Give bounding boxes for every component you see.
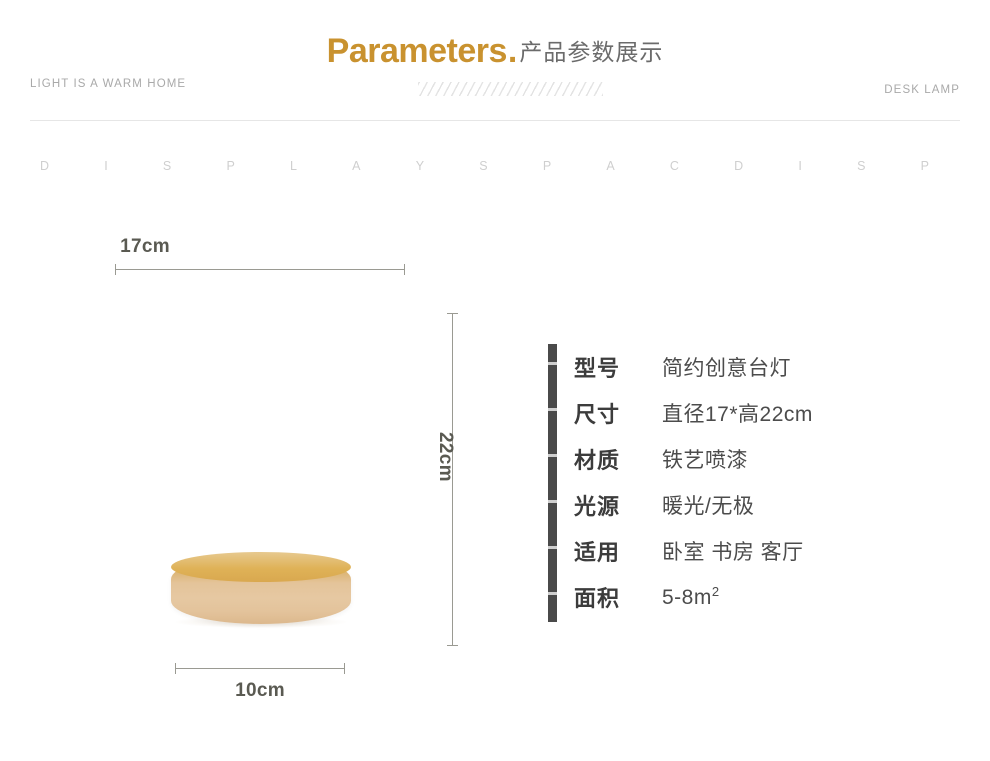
lamp-ring xyxy=(113,298,405,590)
spec-label: 型号 xyxy=(574,351,650,383)
spec-value: 暖光/无极 xyxy=(662,490,754,520)
band-letter: A xyxy=(606,159,615,173)
spec-value: 卧室 书房 客厅 xyxy=(662,536,804,566)
band-letter: S xyxy=(163,159,172,173)
dimension-cap-left-top xyxy=(115,264,116,275)
band-letter: D xyxy=(40,159,50,173)
band-letter: S xyxy=(479,159,488,173)
dimension-cap-right-top xyxy=(404,264,405,275)
spec-bar-tick xyxy=(548,408,557,411)
dimension-label-height-right: 22cm xyxy=(434,432,456,482)
page-title: Parameters.产品参数展示 xyxy=(0,32,990,71)
band-letter: D xyxy=(734,159,744,173)
spec-accent-bar xyxy=(548,344,557,622)
band-letter: I xyxy=(798,159,802,173)
spec-bar-tick xyxy=(548,592,557,595)
lamp-base-top xyxy=(171,552,351,582)
band-letter: Y xyxy=(416,159,425,173)
spec-label: 尺寸 xyxy=(574,397,650,429)
spec-value: 直径17*高22cm xyxy=(662,398,813,428)
band-letter: P xyxy=(226,159,235,173)
band-letter: A xyxy=(352,159,361,173)
spec-label: 面积 xyxy=(574,581,650,613)
dimension-line-width-top xyxy=(115,269,405,270)
spec-row: 尺寸直径17*高22cm xyxy=(574,390,813,436)
spec-row-list: 型号简约创意台灯尺寸直径17*高22cm材质铁艺喷漆光源暖光/无极适用卧室 书房… xyxy=(574,344,813,620)
band-letter: C xyxy=(670,159,680,173)
spec-value: 铁艺喷漆 xyxy=(662,444,748,474)
band-letter: I xyxy=(104,159,108,173)
dimension-cap-bottom-right xyxy=(447,645,458,646)
page-title-en: Parameters xyxy=(327,32,507,70)
tagline-right: DESK LAMP xyxy=(884,84,960,96)
spec-value: 5-8m2 xyxy=(662,584,720,610)
product-image-ring-desk-lamp xyxy=(95,290,435,650)
spec-row: 材质铁艺喷漆 xyxy=(574,436,813,482)
spec-bar-tick xyxy=(548,362,557,365)
dimension-cap-right-base xyxy=(344,663,345,674)
band-letter: S xyxy=(857,159,866,173)
spec-bar-tick xyxy=(548,500,557,503)
band-letter: L xyxy=(290,159,298,173)
page-title-cn: 产品参数展示 xyxy=(519,39,663,65)
dimension-cap-left-base xyxy=(175,663,176,674)
dimension-label-width-top: 17cm xyxy=(0,236,290,258)
diagonal-hatch-ornament-icon xyxy=(418,82,603,96)
dimension-cap-top-right xyxy=(447,313,458,314)
spec-label: 材质 xyxy=(574,443,650,475)
display-space-letter-band: DISPLAYSPACDISP xyxy=(40,155,930,177)
dimension-label-width-base: 10cm xyxy=(175,680,345,702)
spec-label: 光源 xyxy=(574,489,650,521)
page-title-dot: . xyxy=(508,32,517,70)
page-header: Parameters.产品参数展示 LIGHT IS A WARM HOME D… xyxy=(0,0,990,122)
spec-bar-tick xyxy=(548,454,557,457)
tagline-left: LIGHT IS A WARM HOME xyxy=(30,78,186,90)
header-divider xyxy=(30,120,960,121)
spec-value: 简约创意台灯 xyxy=(662,352,791,382)
spec-row: 光源暖光/无极 xyxy=(574,482,813,528)
spec-bar-tick xyxy=(548,546,557,549)
band-letter: P xyxy=(543,159,552,173)
spec-row: 型号简约创意台灯 xyxy=(574,344,813,390)
dimension-line-width-base xyxy=(175,668,345,669)
spec-row: 面积5-8m2 xyxy=(574,574,813,620)
band-letter: P xyxy=(921,159,930,173)
spec-row: 适用卧室 书房 客厅 xyxy=(574,528,813,574)
spec-label: 适用 xyxy=(574,535,650,567)
